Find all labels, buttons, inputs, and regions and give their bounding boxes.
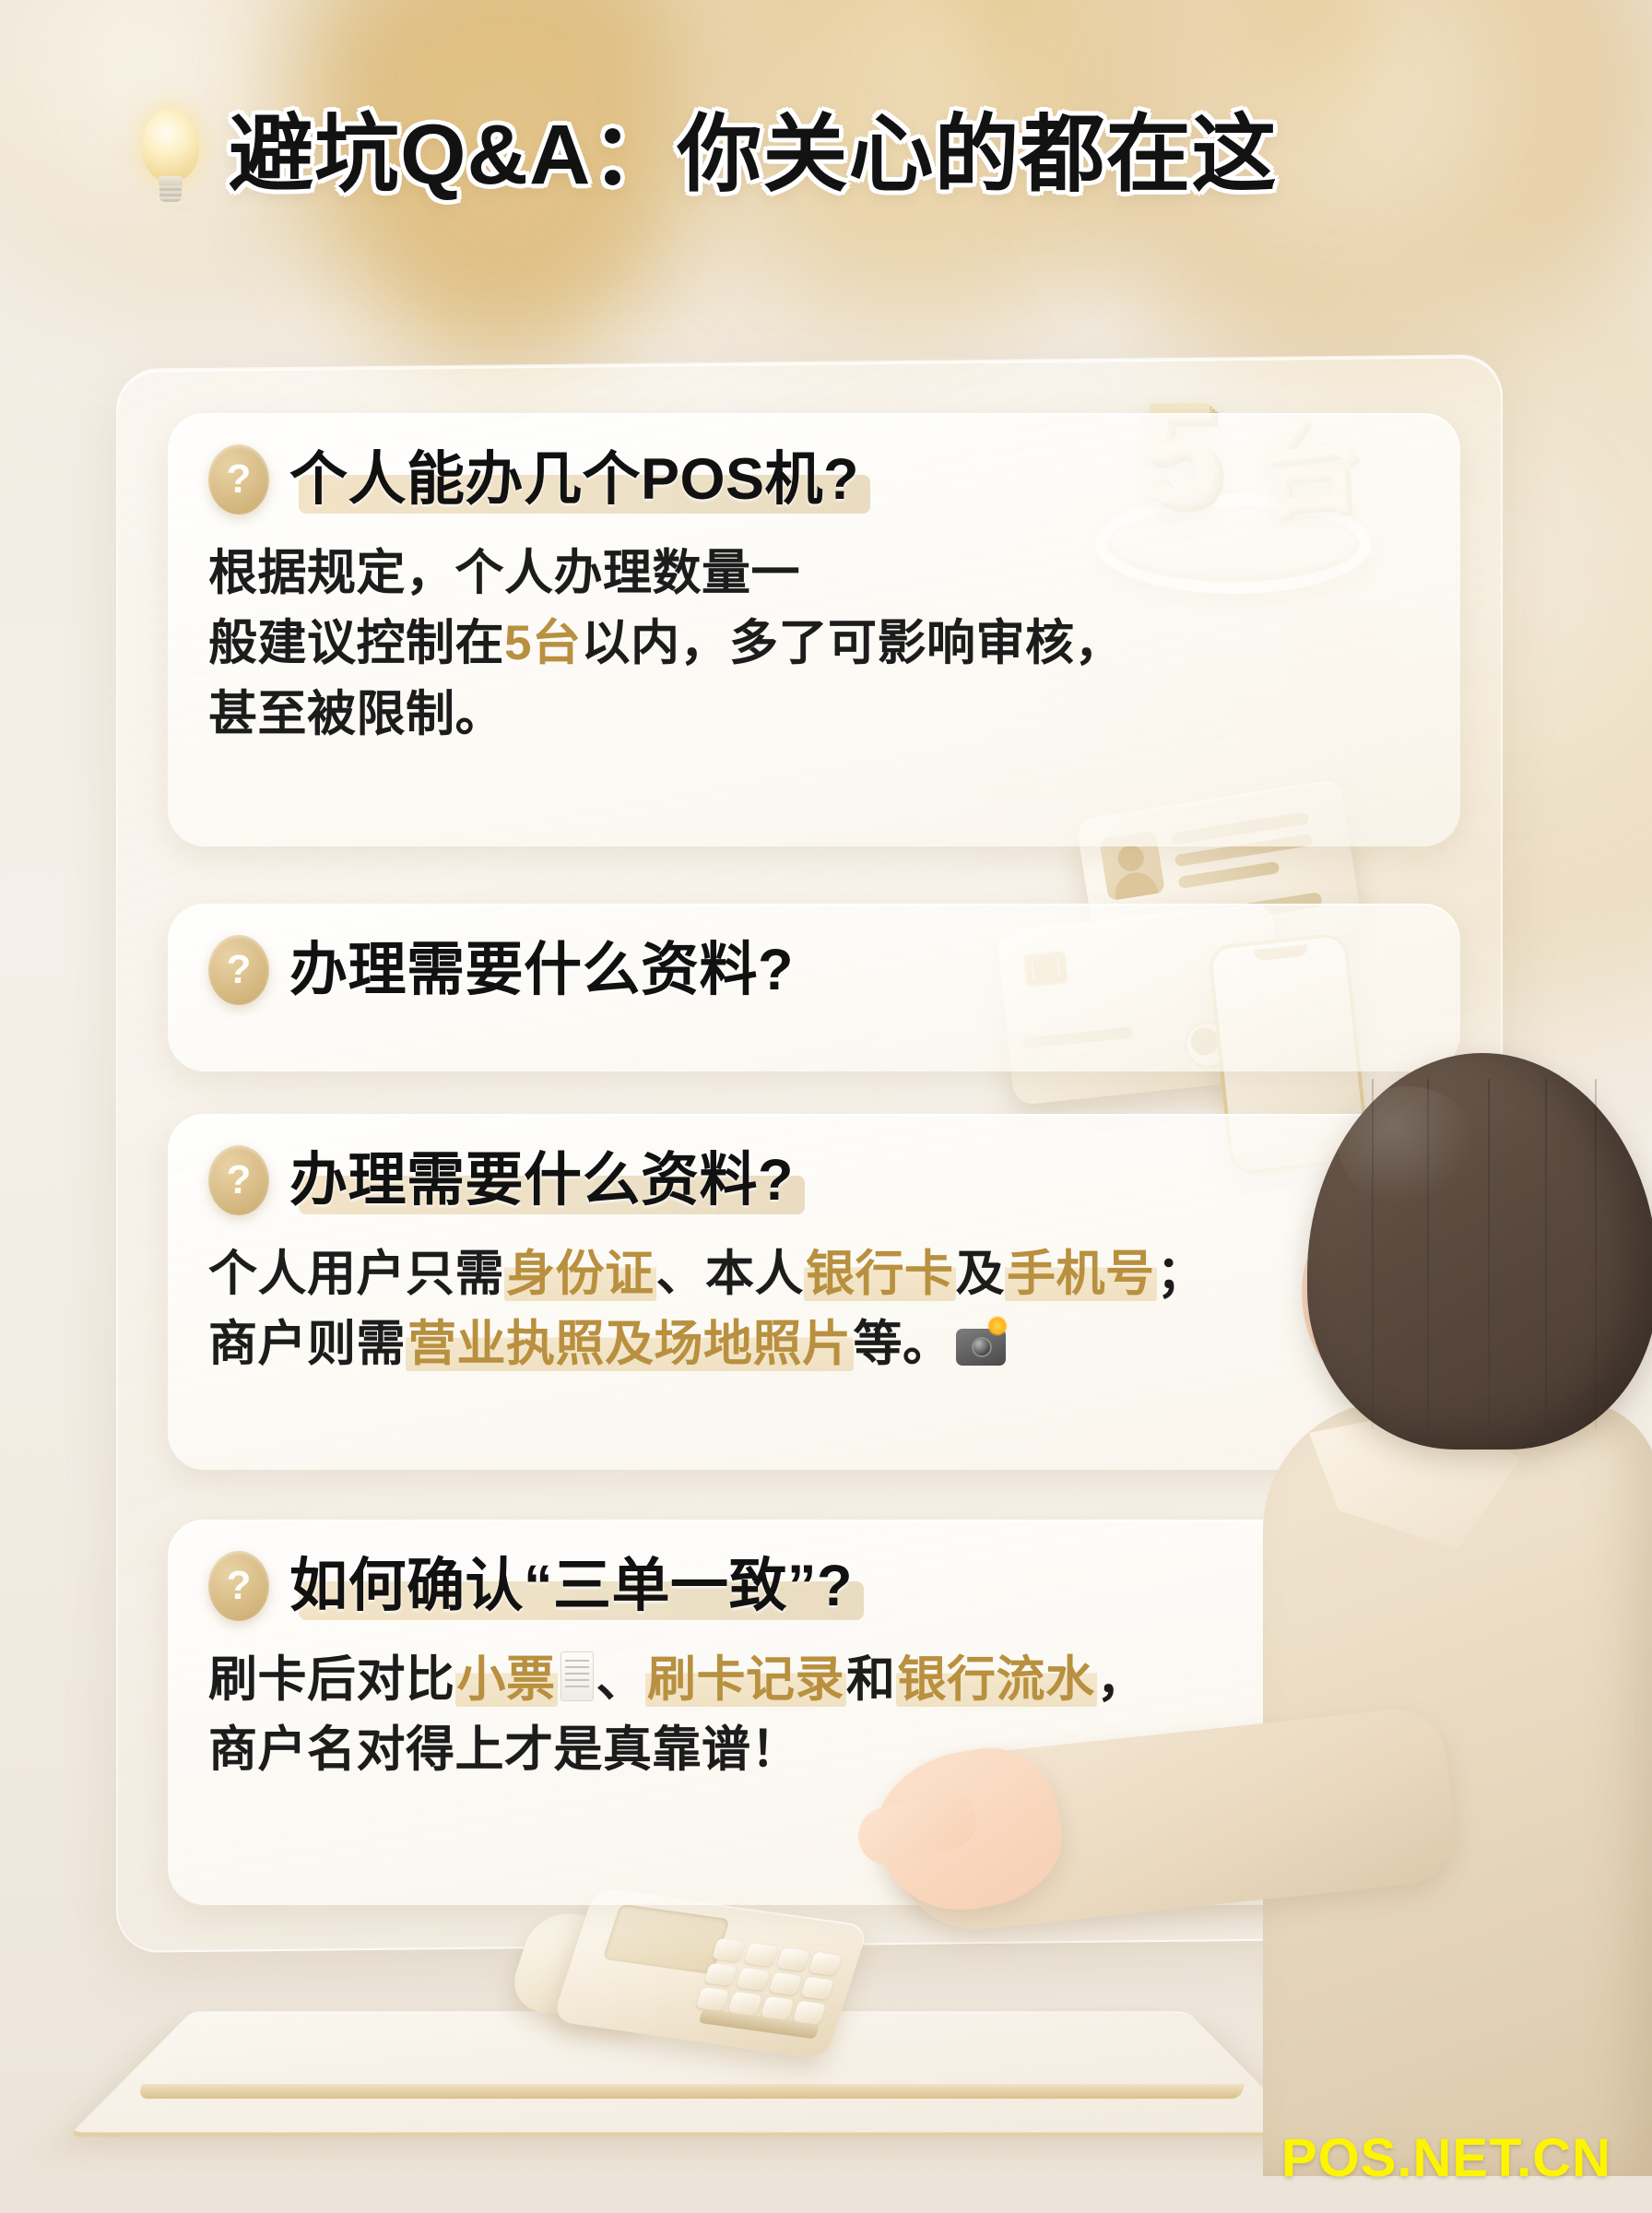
question-mark-icon: ? xyxy=(208,444,269,515)
qa-card-3-body-line-2: 商户则需营业执照及场地照片等。 xyxy=(208,1309,1420,1379)
body-text: ； xyxy=(1157,1247,1207,1301)
qa-card-3-title-wrap: 办理需要什么资料? xyxy=(289,1148,794,1213)
qa-card-1[interactable]: ? 个人能办几个POS机? 根据规定，个人办理数量一 般建议控制在5台以内，多了… xyxy=(168,413,1460,846)
highlight-bank-card: 银行卡 xyxy=(804,1247,956,1301)
highlight-swipe-record: 刷卡记录 xyxy=(645,1652,846,1707)
question-mark-icon: ? xyxy=(208,1145,269,1215)
page-header: 避坑Q&A：你关心的都在这 xyxy=(0,100,1652,210)
qa-card-4-header: ? 如何确认“三单一致”? xyxy=(208,1551,1420,1621)
camera-icon xyxy=(956,1329,1006,1366)
lightbulb-base xyxy=(159,185,182,202)
highlight-license-photos: 营业执照及场地照片 xyxy=(406,1317,854,1371)
qa-card-1-title-wrap: 个人能办几个POS机? xyxy=(289,447,859,513)
highlight-bank-statement: 银行流水 xyxy=(896,1652,1097,1707)
table-edge xyxy=(138,2084,1245,2099)
body-text: 刷卡后对比 xyxy=(208,1652,455,1707)
qa-card-4-title-wrap: 如何确认“三单一致”? xyxy=(289,1554,853,1619)
qa-card-1-body-line-1: 根据规定，个人办理数量一 xyxy=(208,538,1420,609)
qa-card-1-body: 根据规定，个人办理数量一 般建议控制在5台以内，多了可影响审核， 甚至被限制。 xyxy=(208,538,1420,750)
qa-card-2-header: ? 办理需要什么资料? xyxy=(208,935,1420,1005)
qa-card-4[interactable]: ? 如何确认“三单一致”? 刷卡后对比小票、刷卡记录和银行流水， 商户名对得上才… xyxy=(168,1520,1460,1905)
body-text: 甚至被限制。 xyxy=(208,687,504,741)
page-title: 避坑Q&A：你关心的都在这 xyxy=(229,112,1277,197)
qa-card-1-body-line-2: 般建议控制在5台以内，多了可影响审核， xyxy=(208,609,1420,679)
qa-card-1-header: ? 个人能办几个POS机? xyxy=(208,444,1420,515)
receipt-icon xyxy=(560,1651,594,1701)
infographic-canvas: 避坑Q&A：你关心的都在这 5 台 xyxy=(0,0,1652,2213)
qa-card-4-body-line-1: 刷卡后对比小票、刷卡记录和银行流水， xyxy=(208,1645,1420,1715)
qa-card-3-body-line-1: 个人用户只需身份证、本人银行卡及手机号； xyxy=(208,1239,1420,1309)
qa-card-4-body: 刷卡后对比小票、刷卡记录和银行流水， 商户名对得上才是真靠谱！ xyxy=(208,1645,1420,1786)
qa-card-2-title: 办理需要什么资料? xyxy=(289,938,794,1002)
highlight-id-card: 身份证 xyxy=(504,1247,656,1301)
question-mark-icon: ? xyxy=(208,1551,269,1621)
highlight-5units: 5台 xyxy=(504,616,581,670)
question-mark-icon: ? xyxy=(208,935,269,1005)
qa-card-3-body: 个人用户只需身份证、本人银行卡及手机号； 商户则需营业执照及场地照片等。 xyxy=(208,1239,1420,1380)
lightbulb-glass xyxy=(142,108,199,182)
body-text: 、 xyxy=(596,1652,646,1707)
qa-card-1-body-line-3: 甚至被限制。 xyxy=(208,680,1420,750)
body-text: 般建议控制在 xyxy=(208,616,504,670)
qa-card-1-title: 个人能办几个POS机? xyxy=(289,447,859,512)
body-text: 个人用户只需 xyxy=(208,1247,504,1301)
qa-card-4-body-line-2: 商户名对得上才是真靠谱！ xyxy=(208,1715,1420,1785)
qa-card-2[interactable]: ? 办理需要什么资料? xyxy=(168,904,1460,1071)
qa-card-3-header: ? 办理需要什么资料? xyxy=(208,1145,1420,1215)
highlight-receipt: 小票 xyxy=(455,1652,558,1707)
body-text: 商户名对得上才是真靠谱！ xyxy=(208,1722,800,1777)
body-text: 根据规定，个人办理数量一 xyxy=(208,546,800,600)
body-text: ， xyxy=(1097,1652,1147,1707)
lightbulb-icon xyxy=(136,108,205,202)
body-text: 、本人 xyxy=(656,1247,805,1301)
qa-card-4-title: 如何确认“三单一致”? xyxy=(289,1554,853,1618)
qa-card-3[interactable]: ? 办理需要什么资料? 个人用户只需身份证、本人银行卡及手机号； 商户则需营业执… xyxy=(168,1114,1460,1470)
body-text: 及 xyxy=(956,1247,1006,1301)
body-text: 和 xyxy=(846,1652,896,1707)
body-text: 以内，多了可影响审核， xyxy=(581,616,1124,670)
watermark: POS.NET.CN xyxy=(1281,2132,1611,2185)
qa-card-2-title-wrap: 办理需要什么资料? xyxy=(289,938,794,1003)
body-text: 等。 xyxy=(854,1317,952,1371)
highlight-phone-number: 手机号 xyxy=(1005,1247,1157,1301)
qa-card-3-title: 办理需要什么资料? xyxy=(289,1148,794,1213)
body-text: 商户则需 xyxy=(208,1317,406,1371)
